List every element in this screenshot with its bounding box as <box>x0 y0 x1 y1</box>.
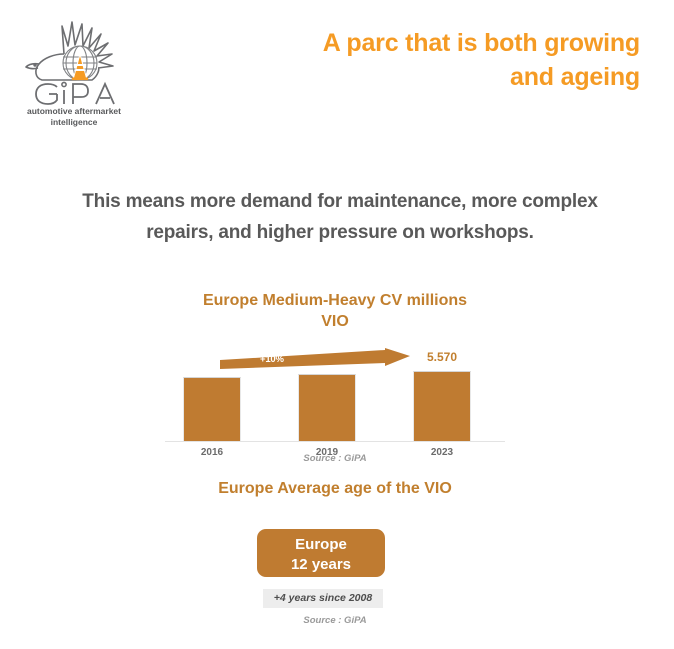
growth-percentage-label: +10% <box>260 354 284 365</box>
gipa-logo: automotive aftermarket intelligence <box>18 18 130 136</box>
subtitle-line2: repairs, and higher pressure on workshop… <box>40 217 640 248</box>
chart-source-note: Source : GiPA <box>155 453 515 464</box>
age-change-badge: +4 years since 2008 <box>263 589 383 608</box>
gipa-hedgehog-globe-logo <box>18 18 130 106</box>
age-card-value: 12 years <box>257 555 385 575</box>
average-age-block: Europe Average age of the VIO Europe 12 … <box>155 478 515 638</box>
page-title: A parc that is both growing and ageing <box>210 26 640 94</box>
subtitle-line1: This means more demand for maintenance, … <box>40 186 640 217</box>
logo-tagline-line1: automotive aftermarket <box>18 106 130 117</box>
europe-average-age-card: Europe 12 years <box>257 529 385 577</box>
logo-tagline-line2: intelligence <box>18 117 130 128</box>
average-age-title: Europe Average age of the VIO <box>155 478 515 499</box>
page-title-line1: A parc that is both growing <box>210 26 640 60</box>
x-axis-line <box>165 441 505 442</box>
age-card-region: Europe <box>257 535 385 555</box>
bar-2016 <box>183 377 241 441</box>
bar-2023 <box>413 371 471 441</box>
page-title-line2: and ageing <box>210 60 640 94</box>
vio-bar-chart-block: Europe Medium-Heavy CV millions VIO +10%… <box>155 290 515 470</box>
bar-value-label-2023: 5.570 <box>408 350 476 364</box>
logo-tagline: automotive aftermarket intelligence <box>18 106 130 128</box>
chart-title-line2: VIO <box>165 311 505 332</box>
age-source-note: Source : GiPA <box>155 615 515 626</box>
bar-2019 <box>298 374 356 441</box>
growth-arrow-icon <box>220 348 410 374</box>
chart-title: Europe Medium-Heavy CV millions VIO <box>165 290 505 332</box>
chart-title-line1: Europe Medium-Heavy CV millions <box>165 290 505 311</box>
bar-chart-plot: +10% 5.570 2016 2019 2023 <box>165 342 505 442</box>
page-header: automotive aftermarket intelligence A pa… <box>0 0 674 160</box>
subtitle-paragraph: This means more demand for maintenance, … <box>40 186 640 248</box>
